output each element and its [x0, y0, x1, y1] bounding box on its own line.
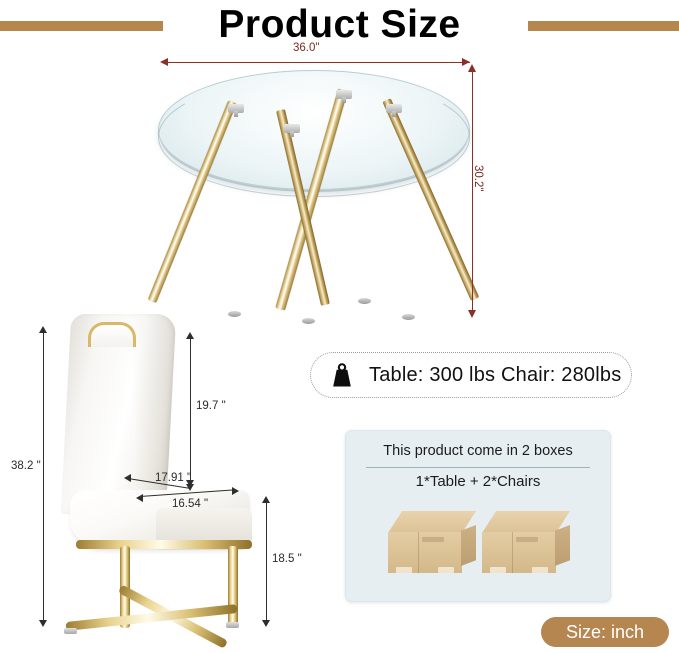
chair-back-height-label: 19.7 " [196, 400, 226, 412]
weight-capacity-text: Table: 300 lbs Chair: 280lbs [369, 364, 621, 387]
box-top-flap [388, 511, 476, 533]
arrow-down-icon [262, 620, 270, 627]
shipping-box [388, 511, 476, 573]
box-tab [438, 567, 454, 573]
box-side-face [461, 525, 476, 566]
arrow-up-icon [39, 326, 47, 333]
table-foot [402, 314, 415, 320]
box-side-face [555, 525, 570, 566]
weight-capacity-box: Table: 300 lbs Chair: 280lbs [310, 352, 632, 398]
chair-base-rail [76, 540, 252, 549]
box-seam [418, 532, 419, 573]
table-leg-bracket [336, 90, 352, 99]
packaging-divider [366, 467, 590, 468]
arrow-up-icon [262, 496, 270, 503]
table-leg-bracket [386, 104, 402, 113]
packaging-subheading: 1*Table + 2*Chairs [346, 473, 610, 490]
box-tab [532, 567, 548, 573]
table-height-label: 30.2" [472, 165, 484, 191]
arrow-left-icon [124, 474, 131, 482]
chair-seat-width-label: 16.54 " [172, 498, 208, 510]
table-leg-bracket [228, 104, 244, 113]
chair-foot [64, 628, 77, 634]
arrow-down-icon [186, 484, 194, 491]
box-tab [490, 567, 506, 573]
chair-leg-back [228, 546, 238, 626]
box-label [516, 537, 538, 542]
box-label [422, 537, 444, 542]
packaging-heading: This product come in 2 boxes [346, 443, 610, 459]
chair-seat-depth-label: 17.91 " [155, 472, 191, 484]
page-header: Product Size [0, 0, 679, 50]
arrow-up-icon [186, 332, 194, 339]
arrow-up-icon [468, 64, 476, 72]
box-seam [512, 532, 513, 573]
arrow-down-icon [39, 620, 47, 627]
box-tab [396, 567, 412, 573]
chair-handle-cutout [88, 322, 136, 347]
table-leg-bracket [284, 124, 300, 133]
table-illustration [150, 62, 480, 330]
chair-foot [226, 622, 239, 628]
arrow-down-icon [468, 310, 476, 318]
packaging-panel: This product come in 2 boxes 1*Table + 2… [345, 430, 611, 602]
arrow-left-icon [136, 494, 143, 502]
page-title: Product Size [0, 0, 679, 50]
arrow-right-icon [232, 487, 239, 495]
arrow-left-icon [160, 58, 168, 66]
size-unit-badge: Size: inch [541, 617, 669, 647]
table-foot [302, 318, 315, 324]
weight-icon [327, 360, 357, 390]
table-foot [358, 298, 371, 304]
chair-seat-height-label: 18.5 " [272, 553, 302, 565]
shipping-box [482, 511, 570, 573]
chair-total-height-label: 38.2 " [11, 460, 41, 472]
box-top-flap [482, 511, 570, 533]
table-width-label: 36.0" [293, 42, 319, 54]
